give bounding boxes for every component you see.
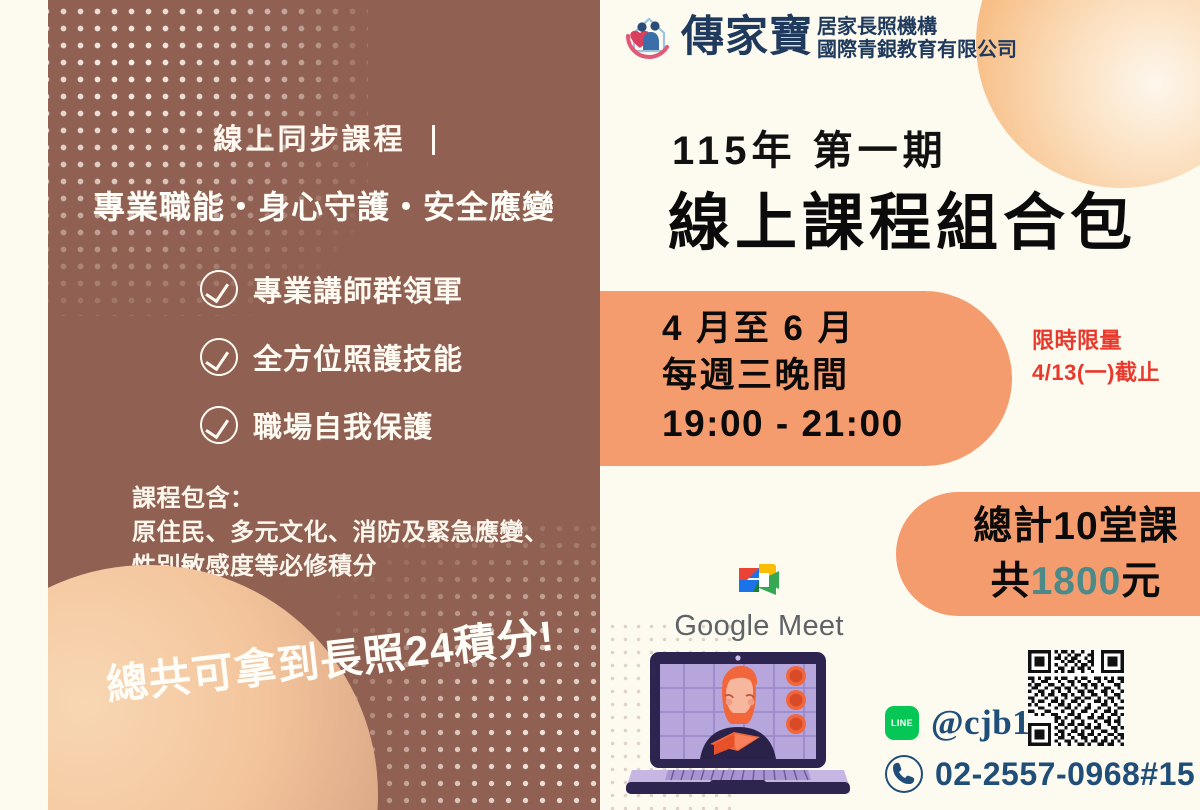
brand-subtitle-line-2: 國際青銀教育有限公司: [817, 39, 1017, 62]
list-item: 全方位照護技能: [200, 336, 463, 378]
google-meet-icon: [731, 591, 787, 608]
poster-canvas: 線上同步課程 專業職能・身心守護・安全應變 專業講師群領軍 全方位照護技能 職場…: [0, 0, 1200, 810]
right-cream-panel: 傳家寶 居家長照機構 國際青銀教育有限公司 115年 第一期 線上課程組合包 4…: [600, 0, 1200, 810]
house-family-heart-logo-icon: [620, 6, 678, 69]
course-kicker: 線上同步課程: [48, 116, 600, 158]
laptop-online-class-illustration-icon: [622, 648, 854, 805]
check-circle-icon: [198, 404, 241, 447]
feature-label: 專業講師群領軍: [253, 268, 463, 310]
feature-list: 專業講師群領軍 全方位照護技能 職場自我保護: [200, 268, 463, 472]
schedule-block: 4 月至 6 月 每週三晚間 19:00 - 21:00: [662, 306, 1022, 448]
term-label: 115年 第一期: [672, 118, 948, 176]
deadline-line-1: 限時限量: [1032, 325, 1160, 357]
list-item: 專業講師群領軍: [200, 268, 463, 310]
schedule-time: 19:00 - 21:00: [662, 399, 1022, 448]
brand-logo: 傳家寶 居家長照機構 國際青銀教育有限公司: [620, 6, 1017, 69]
check-circle-icon: [198, 336, 241, 379]
platform-label: Google Meet: [644, 610, 874, 643]
deadline-notice: 限時限量 4/13(一)截止: [1032, 325, 1160, 389]
schedule-months: 4 月至 6 月: [662, 306, 1022, 353]
course-kicker-text: 線上同步課程: [213, 124, 405, 156]
kicker-divider-bar: [432, 125, 435, 155]
line-badge-label: LINE: [885, 706, 919, 740]
brand-subtitle: 居家長照機構 國際青銀教育有限公司: [817, 13, 1017, 61]
price-block: 總計10堂課 共1800元: [926, 500, 1200, 609]
price-lessons: 總計10堂課: [926, 500, 1200, 555]
left-brown-panel: 線上同步課程 專業職能・身心守護・安全應變 專業講師群領軍 全方位照護技能 職場…: [48, 0, 600, 810]
course-includes: 課程包含： 原住民、多元文化、消防及緊急應變、 性別敏感度等必修積分: [132, 482, 600, 584]
line-app-icon: LINE: [885, 706, 919, 740]
feature-label: 職場自我保護: [253, 404, 433, 446]
brand-name: 傳家寶: [681, 16, 813, 59]
price-amount: 1800: [1031, 560, 1122, 603]
price-total: 共1800元: [926, 555, 1200, 610]
line-id-text: @cjb1: [931, 703, 1030, 743]
phone-contact[interactable]: 02-2557-0968#15: [885, 755, 1195, 793]
line-contact[interactable]: LINE @cjb1: [885, 703, 1030, 743]
page-title: 線上課程組合包: [668, 172, 1137, 262]
feature-label: 全方位照護技能: [253, 336, 463, 378]
includes-label: 課程包含：: [132, 482, 600, 516]
qr-code-icon[interactable]: [1028, 650, 1124, 746]
schedule-weekday: 每週三晚間: [662, 353, 1022, 400]
deadline-line-2: 4/13(一)截止: [1032, 357, 1160, 389]
list-item: 職場自我保護: [200, 404, 463, 446]
check-circle-icon: [198, 268, 241, 311]
course-subtitle: 專業職能・身心守護・安全應變: [48, 182, 600, 228]
phone-number-text: 02-2557-0968#15: [935, 756, 1195, 793]
platform-block: Google Meet: [644, 556, 874, 643]
brand-subtitle-line-1: 居家長照機構: [817, 16, 1017, 39]
price-suffix: 元: [1121, 560, 1161, 603]
price-prefix: 共: [991, 560, 1031, 603]
includes-line-1: 原住民、多元文化、消防及緊急應變、: [132, 516, 600, 550]
phone-icon: [885, 755, 923, 793]
